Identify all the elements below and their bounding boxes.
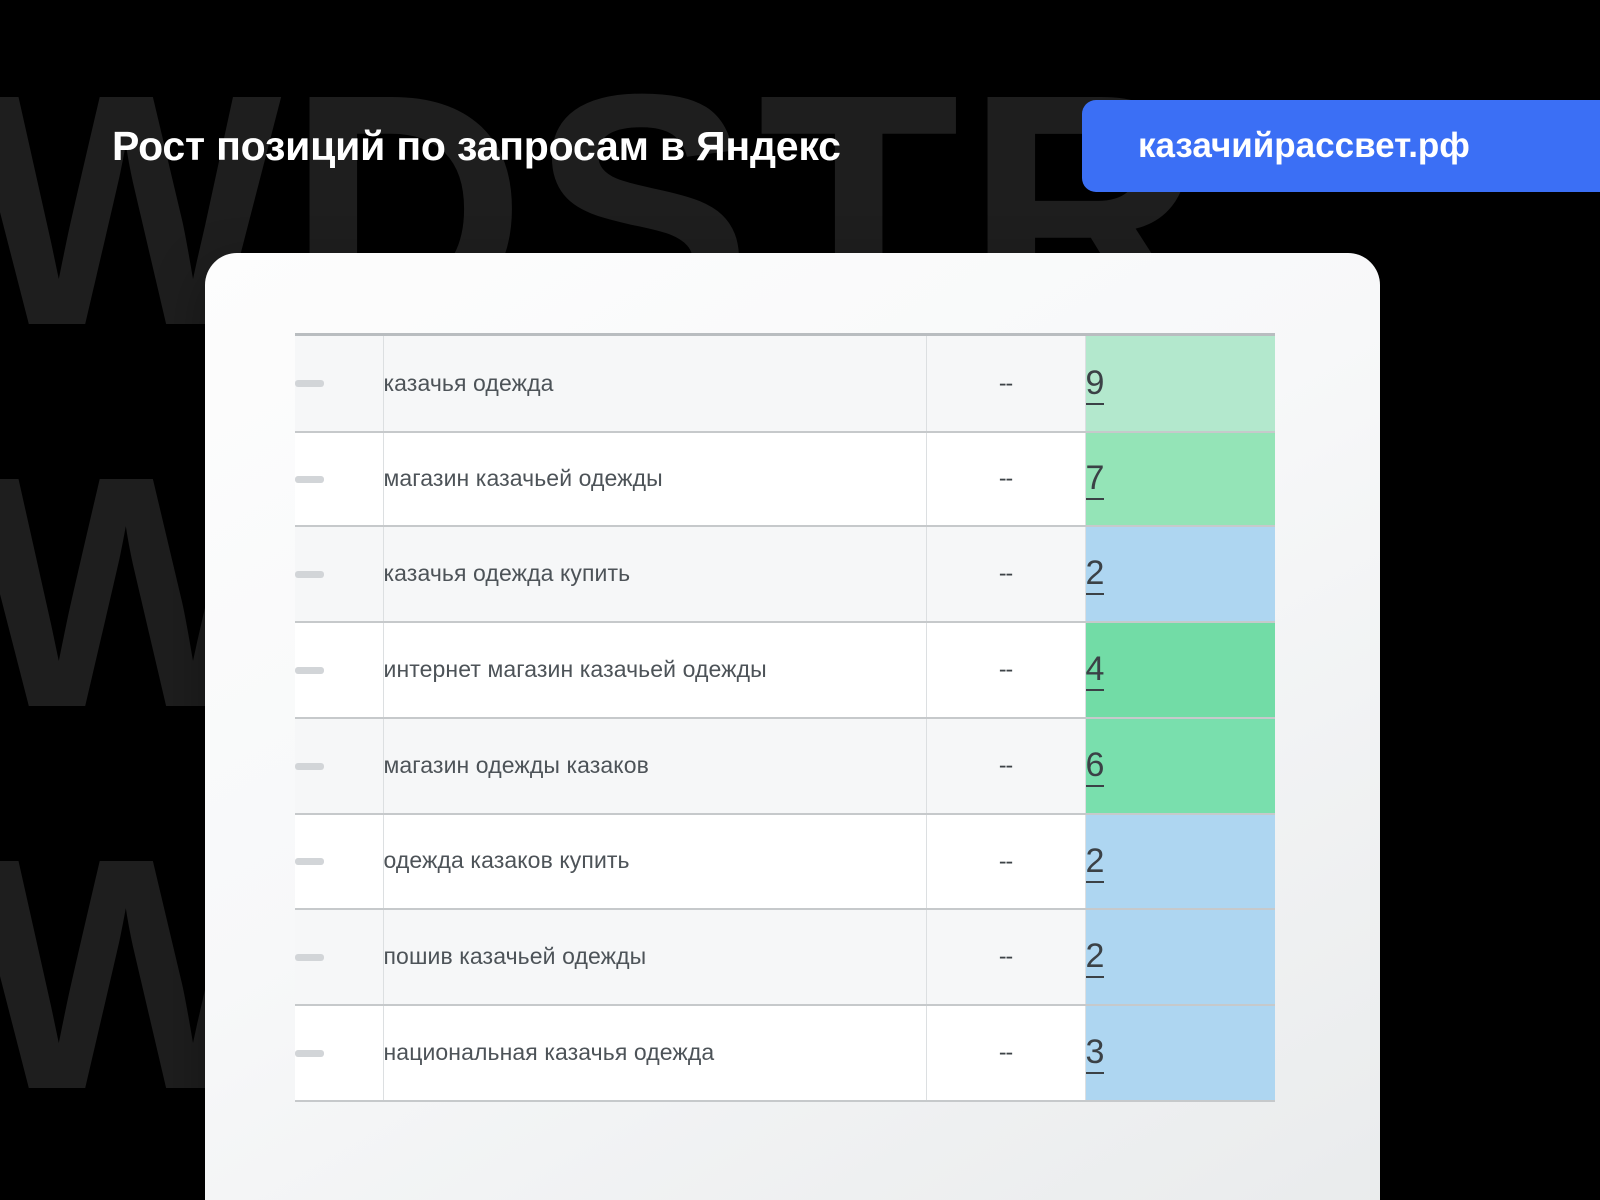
- change-cell: --: [926, 622, 1085, 718]
- table-row[interactable]: национальная казачья одежда -- 3: [295, 1005, 1275, 1101]
- dash-icon: [295, 667, 324, 674]
- change-cell: --: [926, 909, 1085, 1005]
- position-value[interactable]: 2: [1086, 842, 1105, 883]
- position-cell[interactable]: 7: [1085, 432, 1275, 526]
- position-cell[interactable]: 6: [1085, 718, 1275, 814]
- position-value[interactable]: 6: [1086, 746, 1105, 787]
- row-marker-cell: [295, 622, 383, 718]
- dash-icon: [295, 763, 324, 770]
- table-body: казачья одежда -- 9 магазин казачьей оде…: [295, 335, 1275, 1101]
- row-marker-cell: [295, 814, 383, 909]
- keyword-positions-table: казачья одежда -- 9 магазин казачьей оде…: [295, 333, 1275, 1102]
- position-cell[interactable]: 2: [1085, 526, 1275, 622]
- table-row[interactable]: магазин казачьей одежды -- 7: [295, 432, 1275, 526]
- change-cell: --: [926, 526, 1085, 622]
- table-row[interactable]: интернет магазин казачьей одежды -- 4: [295, 622, 1275, 718]
- row-marker-cell: [295, 432, 383, 526]
- position-cell[interactable]: 2: [1085, 909, 1275, 1005]
- position-value[interactable]: 4: [1086, 650, 1105, 691]
- table-row[interactable]: одежда казаков купить -- 2: [295, 814, 1275, 909]
- query-cell: национальная казачья одежда: [383, 1005, 926, 1101]
- row-marker-cell: [295, 335, 383, 432]
- change-cell: --: [926, 432, 1085, 526]
- position-value[interactable]: 3: [1086, 1033, 1105, 1074]
- table-row[interactable]: казачья одежда -- 9: [295, 335, 1275, 432]
- change-cell: --: [926, 814, 1085, 909]
- dash-icon: [295, 476, 324, 483]
- table-row[interactable]: казачья одежда купить -- 2: [295, 526, 1275, 622]
- position-value[interactable]: 2: [1086, 554, 1105, 595]
- query-cell: пошив казачьей одежды: [383, 909, 926, 1005]
- change-cell: --: [926, 1005, 1085, 1101]
- change-cell: --: [926, 335, 1085, 432]
- position-cell[interactable]: 3: [1085, 1005, 1275, 1101]
- position-cell[interactable]: 9: [1085, 335, 1275, 432]
- page-title: Рост позиций по запросам в Яндекс: [112, 123, 841, 170]
- query-cell: казачья одежда: [383, 335, 926, 432]
- table-row[interactable]: пошив казачьей одежды -- 2: [295, 909, 1275, 1005]
- query-cell: магазин одежды казаков: [383, 718, 926, 814]
- dash-icon: [295, 380, 324, 387]
- position-value[interactable]: 9: [1086, 364, 1105, 405]
- row-marker-cell: [295, 1005, 383, 1101]
- query-cell: интернет магазин казачьей одежды: [383, 622, 926, 718]
- dash-icon: [295, 571, 324, 578]
- table-row[interactable]: магазин одежды казаков -- 6: [295, 718, 1275, 814]
- query-cell: казачья одежда купить: [383, 526, 926, 622]
- position-value[interactable]: 7: [1086, 459, 1105, 500]
- position-cell[interactable]: 4: [1085, 622, 1275, 718]
- screenshot-card: казачья одежда -- 9 магазин казачьей оде…: [205, 253, 1380, 1200]
- header: Рост позиций по запросам в Яндекс казачи…: [0, 100, 1600, 192]
- dash-icon: [295, 858, 324, 865]
- position-value[interactable]: 2: [1086, 937, 1105, 978]
- domain-badge: казачийрассвет.рф: [1082, 100, 1600, 192]
- query-cell: магазин казачьей одежды: [383, 432, 926, 526]
- row-marker-cell: [295, 909, 383, 1005]
- dash-icon: [295, 1050, 324, 1057]
- row-marker-cell: [295, 526, 383, 622]
- dash-icon: [295, 954, 324, 961]
- row-marker-cell: [295, 718, 383, 814]
- change-cell: --: [926, 718, 1085, 814]
- query-cell: одежда казаков купить: [383, 814, 926, 909]
- position-cell[interactable]: 2: [1085, 814, 1275, 909]
